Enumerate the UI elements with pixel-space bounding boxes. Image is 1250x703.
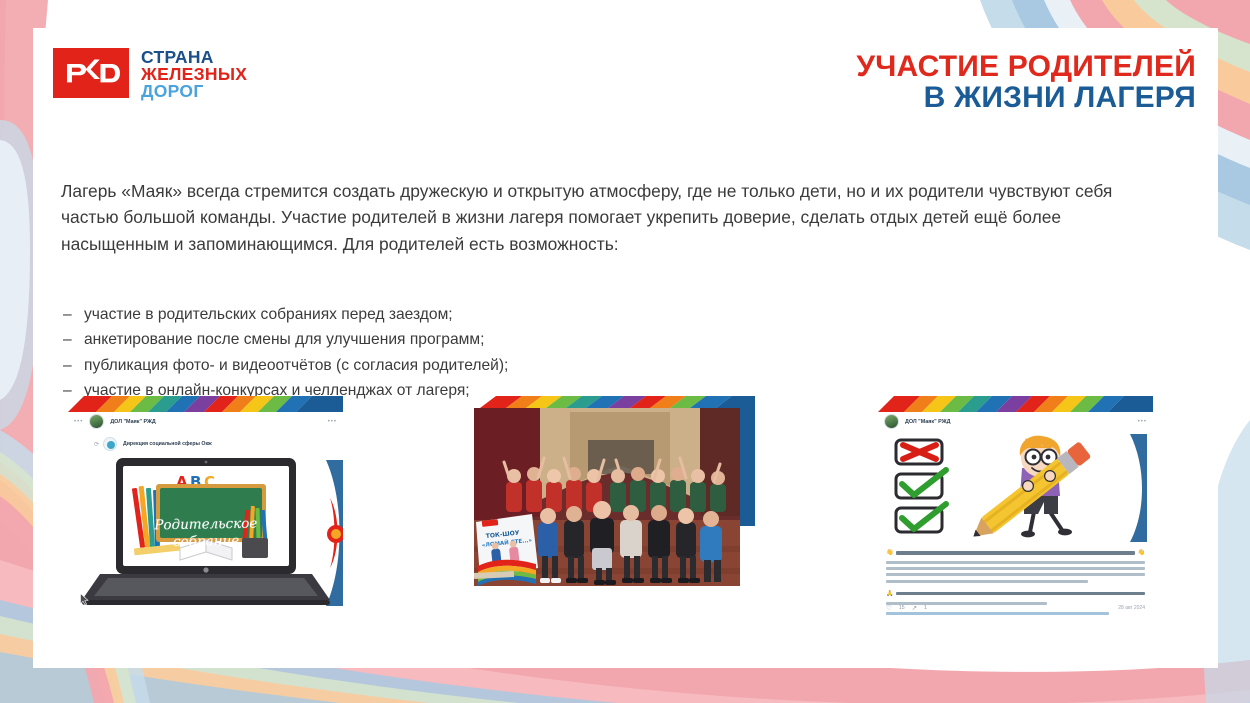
- slide-content-card: СТРАНА ЖЕЛЕЗНЫХ ДОРОГ УЧАСТИЕ РОДИТЕЛЕЙ …: [33, 28, 1218, 668]
- waving-hand-emoji-icon: 👋: [1138, 550, 1145, 556]
- page-title-line-1: УЧАСТИЕ РОДИТЕЛЕЙ: [856, 52, 1196, 83]
- bullet-marker-icon: –: [63, 302, 75, 327]
- vk-post-heading: 👋 👋: [886, 550, 1145, 556]
- post-date: 28 авг 2024: [1118, 605, 1145, 611]
- vk-author-name: ДОЛ "Маяк" РЖД: [110, 419, 155, 425]
- photo-camp-group: ТОК-ШОУ «ЛОМАЙ СТЕ...»: [470, 396, 755, 609]
- rzd-logo-icon: [53, 48, 129, 98]
- presentation-slide: СТРАНА ЖЕЛЕЗНЫХ ДОРОГ УЧАСТИЕ РОДИТЕЛЕЙ …: [0, 0, 1250, 703]
- vk-shared-source: ⟳ Дирекция социальной сферы Окж: [94, 437, 337, 451]
- shares-count: 1: [924, 605, 927, 611]
- vk-shared-source-name: Дирекция социальной сферы Окж: [123, 441, 212, 447]
- list-item: – публикация фото- и видеоотчётов (с сог…: [63, 353, 763, 378]
- laptop-illustration: A B C: [68, 454, 343, 614]
- bullet-marker-icon: –: [63, 353, 75, 378]
- vk-post-screenshot: ДОЛ "Маяк" РЖД •••: [878, 396, 1153, 618]
- mouse-cursor-icon: [80, 593, 89, 606]
- body-text-line: [886, 567, 1145, 570]
- brand-logo-lockup: СТРАНА ЖЕЛЕЗНЫХ ДОРОГ: [53, 48, 247, 100]
- photo-final-survey-post: ДОЛ "Маяк" РЖД •••: [878, 396, 1153, 618]
- list-item-label: участие в родительских собраниях перед з…: [84, 302, 453, 327]
- photo-parent-meeting-post: ••• ДОЛ "Маяк" РЖД ••• ⟳ Дирекция социал…: [68, 396, 343, 614]
- repost-icon: ⟳: [94, 441, 99, 448]
- body-text-line: [886, 573, 1145, 576]
- list-item: – анкетирование после смены для улучшени…: [63, 327, 763, 352]
- heading-text-line: [896, 551, 1134, 554]
- vk-post-subheading: 🙏: [886, 591, 1145, 597]
- page-title: УЧАСТИЕ РОДИТЕЛЕЙ В ЖИЗНИ ЛАГЕРЯ: [856, 52, 1196, 114]
- left-dots-icon: •••: [74, 419, 83, 425]
- waving-hand-emoji-icon: 👋: [886, 550, 893, 556]
- page-title-line-2: В ЖИЗНИ ЛАГЕРЯ: [856, 83, 1196, 114]
- subheading-text-line: [896, 592, 1145, 595]
- survey-link-line[interactable]: [886, 612, 1109, 615]
- reactions-count: 15: [899, 605, 905, 611]
- more-options-icon: •••: [328, 419, 337, 425]
- more-options-icon: •••: [1138, 419, 1147, 425]
- group-photo-illustration: ТОК-ШОУ «ЛОМАЙ СТЕ...»: [470, 396, 755, 609]
- survey-illustration: [884, 430, 1147, 546]
- avatar: [884, 414, 899, 429]
- vk-post-header: ДОЛ "Маяк" РЖД •••: [884, 414, 1147, 429]
- brand-word-3: ДОРОГ: [141, 83, 247, 100]
- pray-emoji-icon: 🙏: [886, 591, 893, 597]
- bullet-marker-icon: –: [63, 327, 75, 352]
- avatar: [103, 437, 117, 451]
- decorative-stripe-banner: [878, 396, 1153, 412]
- list-item: – участие в родительских собраниях перед…: [63, 302, 763, 327]
- vk-post-body: 👋 👋 🙏: [884, 430, 1147, 614]
- like-icon[interactable]: ♡: [886, 604, 892, 612]
- participation-options-list: – участие в родительских собраниях перед…: [63, 302, 763, 403]
- avatar: [89, 414, 104, 429]
- list-item-label: публикация фото- и видеоотчётов (с согла…: [84, 353, 508, 378]
- decorative-stripe-banner: [68, 396, 343, 412]
- body-text-line: [886, 580, 1088, 583]
- list-item-label: анкетирование после смены для улучшения …: [84, 327, 484, 352]
- vk-post-footer: ♡ 15 ↗ 1 28 авг 2024: [886, 604, 1145, 612]
- vk-post-screenshot: ••• ДОЛ "Маяк" РЖД ••• ⟳ Дирекция социал…: [68, 396, 343, 614]
- vk-author-name: ДОЛ "Маяк" РЖД: [905, 419, 950, 425]
- brand-wordmark: СТРАНА ЖЕЛЕЗНЫХ ДОРОГ: [141, 48, 247, 100]
- intro-paragraph: Лагерь «Маяк» всегда стремится создать д…: [61, 178, 1169, 257]
- share-icon[interactable]: ↗: [912, 604, 917, 612]
- body-text-line: [886, 561, 1145, 564]
- photo-gallery: ••• ДОЛ "Маяк" РЖД ••• ⟳ Дирекция социал…: [33, 396, 1218, 626]
- vk-post-header: ••• ДОЛ "Маяк" РЖД •••: [74, 414, 337, 429]
- slide-header: СТРАНА ЖЕЛЕЗНЫХ ДОРОГ УЧАСТИЕ РОДИТЕЛЕЙ …: [33, 28, 1218, 140]
